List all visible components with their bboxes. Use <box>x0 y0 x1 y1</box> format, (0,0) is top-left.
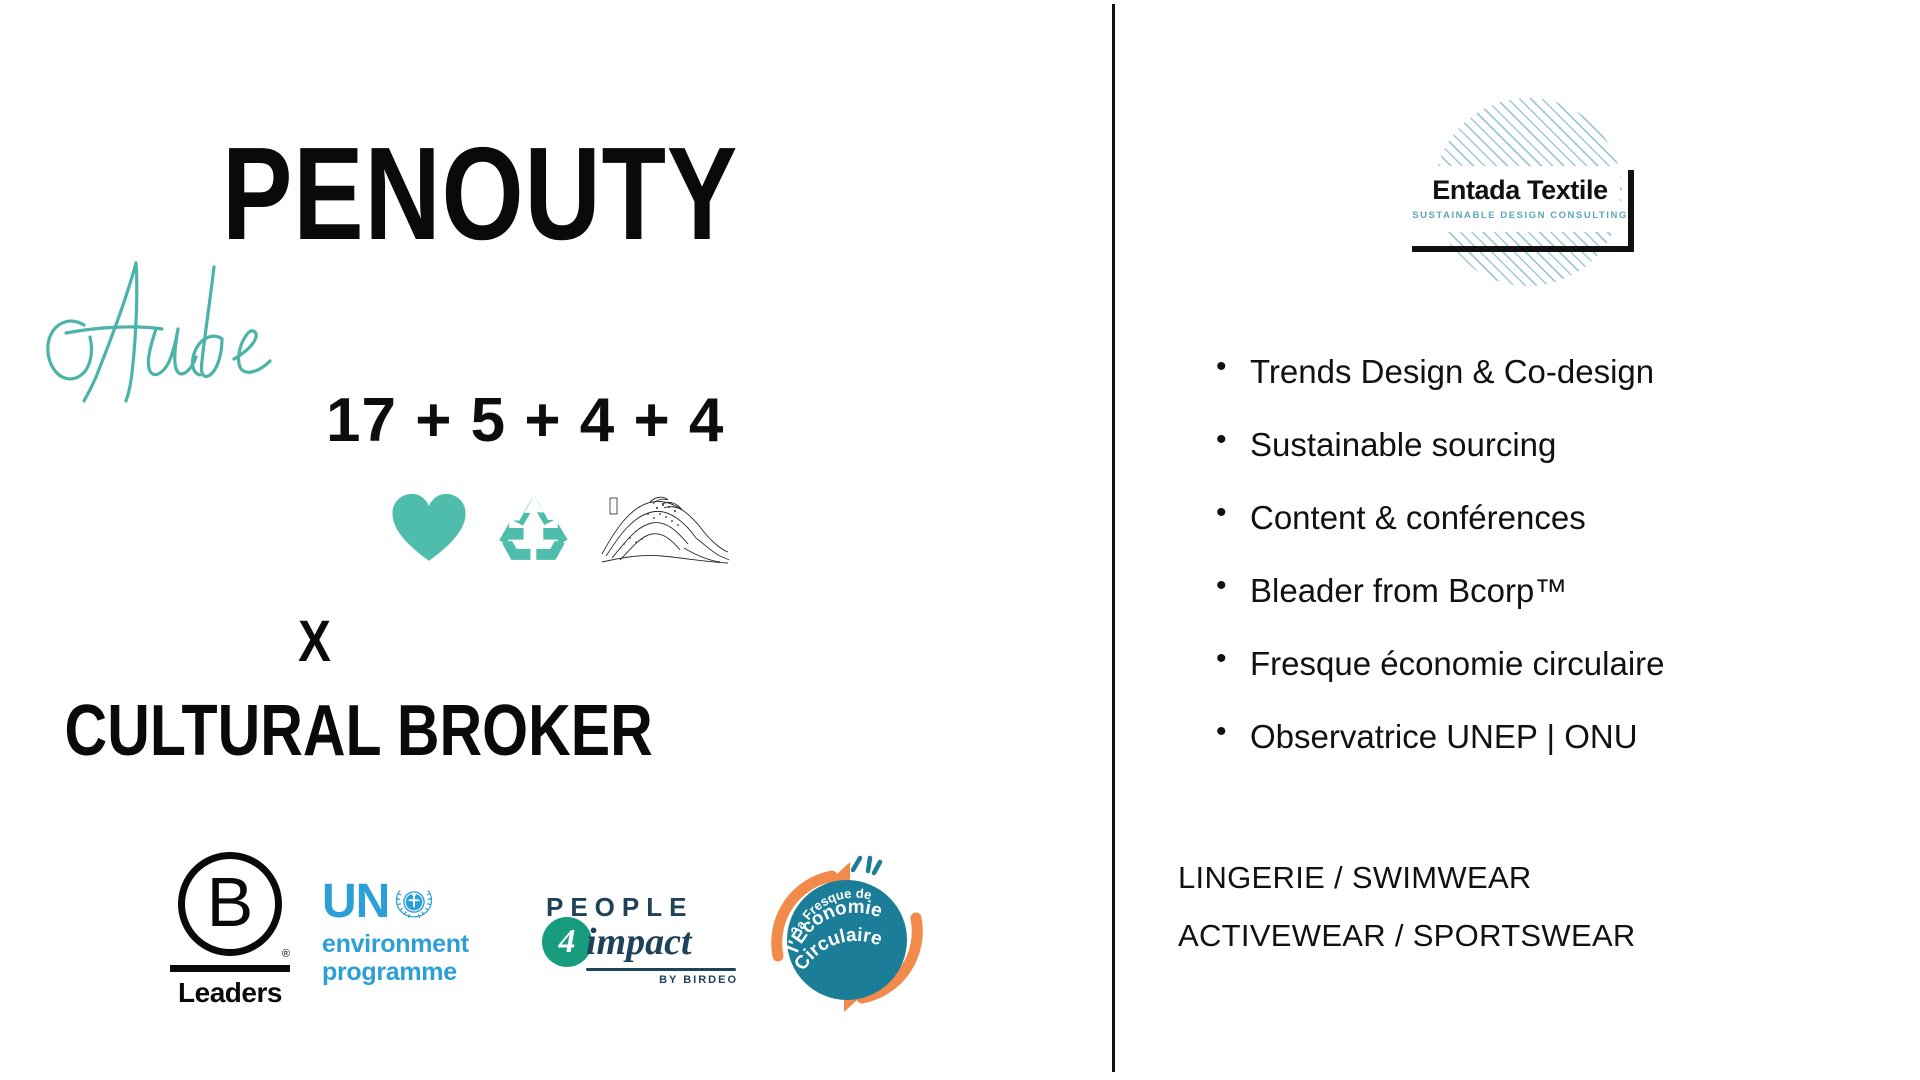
recycle-icon <box>496 492 572 564</box>
brand-name: Entada Textile <box>1432 177 1607 204</box>
services-list: Trends Design & Co-design Sustainable so… <box>1210 355 1665 793</box>
signature-first-name: Aude <box>38 245 308 405</box>
presentation-slide: PENOUTY Aude 17 <box>0 0 1920 1080</box>
great-wave-icon <box>600 492 730 564</box>
role-line: CULTURAL BROKER <box>0 690 1112 772</box>
left-panel: PENOUTY Aude 17 <box>0 0 1112 1080</box>
p4i-underline <box>586 968 736 971</box>
brand-tagline: SUSTAINABLE DESIGN CONSULTING <box>1412 211 1628 221</box>
unep-mark: UN <box>322 878 389 926</box>
unep-line-2: programme <box>322 958 512 986</box>
people-4-impact-logo[interactable]: PEOPLE 4 impact BY BIRDEO <box>542 894 742 986</box>
b-leaders-rule <box>170 965 290 972</box>
un-environment-programme-logo[interactable]: UN environme <box>322 878 512 986</box>
p4i-impact-word: impact <box>586 923 692 961</box>
list-item: Trends Design & Co-design <box>1210 355 1665 388</box>
counts-line: 17 + 5 + 4 + 4 <box>326 385 724 456</box>
fresque-economie-circulaire-logo[interactable]: la Fresque de l'Économie Circulaire <box>754 844 940 1030</box>
b-corp-circle-icon: B <box>178 852 282 956</box>
entada-name-plate: Entada Textile SUSTAINABLE DESIGN CONSUL… <box>1420 166 1620 232</box>
cross-mark: X <box>83 608 1028 675</box>
unep-line-1: environment <box>322 930 512 958</box>
registered-trademark-symbol: ® <box>282 948 290 960</box>
p4i-digit: 4 <box>559 925 576 959</box>
b-leaders-word: Leaders <box>170 977 290 1009</box>
heart-icon <box>390 492 468 564</box>
market-segments: LINGERIE / SWIMWEAR ACTIVEWEAR / SPORTSW… <box>1178 862 1636 978</box>
page-title-surname: PENOUTY <box>222 128 738 260</box>
list-item: Fresque économie circulaire <box>1210 647 1665 680</box>
b-leaders-logo[interactable]: B ® Leaders <box>170 852 290 1009</box>
unep-top-row: UN <box>322 878 512 926</box>
p4i-byline: BY BIRDEO <box>542 974 738 986</box>
list-item: Observatrice UNEP | ONU <box>1210 720 1665 753</box>
list-item: Content & conférences <box>1210 501 1665 534</box>
b-leaders-mark: B <box>207 867 254 937</box>
un-emblem-icon <box>393 881 435 923</box>
count-icon-row <box>390 492 730 564</box>
list-item: Sustainable sourcing <box>1210 428 1665 461</box>
list-item: Bleader from Bcorp™ <box>1210 574 1665 607</box>
entada-textile-logo[interactable]: Entada Textile SUSTAINABLE DESIGN CONSUL… <box>1412 98 1642 298</box>
partner-logo-strip: B ® Leaders UN <box>150 842 950 1032</box>
unep-wordmark: environment programme <box>322 930 512 986</box>
p4i-mid-row: 4 impact <box>542 917 742 967</box>
segment-line: LINGERIE / SWIMWEAR <box>1178 862 1636 893</box>
p4i-four-circle-icon: 4 <box>542 917 592 967</box>
segment-line: ACTIVEWEAR / SPORTSWEAR <box>1178 920 1636 951</box>
role-text: CULTURAL BROKER <box>65 690 653 772</box>
